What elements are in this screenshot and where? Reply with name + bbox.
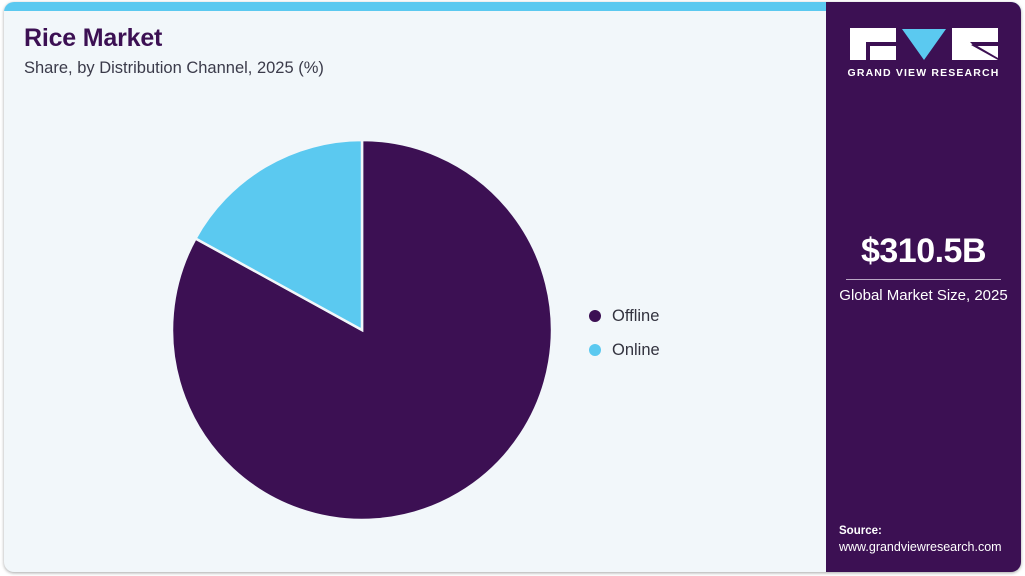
chart-legend: Offline Online bbox=[589, 299, 660, 367]
legend-label-online: Online bbox=[612, 341, 660, 360]
stat-value: $310.5B bbox=[836, 234, 1011, 270]
legend-swatch-offline bbox=[589, 310, 601, 322]
stat-caption: Global Market Size, 2025 bbox=[836, 287, 1011, 306]
side-panel: GRAND VIEW RESEARCH $310.5B Global Marke… bbox=[826, 2, 1021, 572]
brand-wordmark: GRAND VIEW RESEARCH bbox=[826, 67, 1021, 79]
legend-swatch-online bbox=[589, 344, 601, 356]
plot-area: Offline Online bbox=[4, 2, 826, 572]
gvr-logo-icon bbox=[850, 28, 998, 60]
legend-item-online[interactable]: Online bbox=[589, 333, 660, 367]
source-url[interactable]: www.grandviewresearch.com bbox=[839, 539, 1021, 556]
legend-label-offline: Offline bbox=[612, 307, 659, 326]
pie-chart bbox=[172, 140, 552, 520]
brand-logo: GRAND VIEW RESEARCH bbox=[826, 28, 1021, 79]
market-size-stat: $310.5B Global Market Size, 2025 bbox=[826, 234, 1021, 305]
legend-item-offline[interactable]: Offline bbox=[589, 299, 660, 333]
source-block: Source: www.grandviewresearch.com bbox=[839, 524, 1021, 556]
chart-card: Rice Market Share, by Distribution Chann… bbox=[4, 2, 1021, 572]
source-label: Source: bbox=[839, 524, 1021, 540]
chart-canvas: Rice Market Share, by Distribution Chann… bbox=[0, 0, 1025, 576]
pie-chart-svg bbox=[172, 140, 552, 520]
stat-divider bbox=[846, 279, 1001, 280]
